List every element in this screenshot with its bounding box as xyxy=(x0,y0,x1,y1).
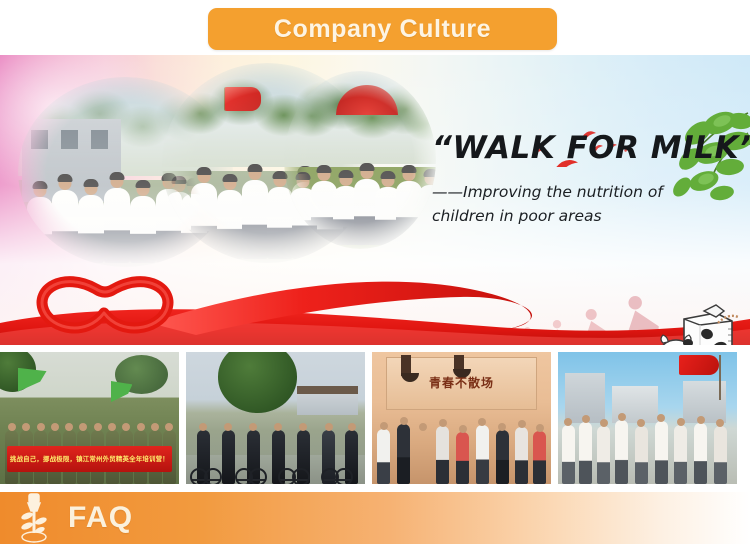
faq-bar[interactable]: FAQ xyxy=(0,492,750,544)
company-culture-page: Company Culture xyxy=(0,0,750,557)
photo-cycling-team[interactable] xyxy=(186,352,365,484)
banner-headline: “WALK FOR MILK” xyxy=(432,133,732,164)
photo-hall-sign-text: 青春不散场 xyxy=(429,374,494,391)
faq-label: FAQ xyxy=(68,503,133,533)
walk-for-milk-banner: MILK xyxy=(0,55,750,345)
collage-photo-right xyxy=(284,71,436,249)
drill-auger-glyph xyxy=(12,492,56,544)
ribbon-icon xyxy=(0,237,750,345)
banner-text-block: “WALK FOR MILK” ——Improving the nutritio… xyxy=(432,133,732,228)
milk-carton-illustration: MILK xyxy=(660,295,742,345)
company-culture-header-pill: Company Culture xyxy=(208,8,557,50)
photo-hall-sign: 青春不散场 xyxy=(401,365,523,399)
drill-auger-icon xyxy=(12,492,56,544)
milk-carton-label: MILK xyxy=(705,343,736,345)
bottom-white-margin xyxy=(0,544,750,557)
photo-indoor-party[interactable]: 青春不散场 xyxy=(372,352,551,484)
red-ribbon-heart xyxy=(0,237,750,345)
section-header: Company Culture xyxy=(0,0,750,55)
photo-strip: 挑战自己，挪战极限，镇江常州外贸精英全年培训营！ xyxy=(0,352,750,484)
banner-subline: ——Improving the nutrition of children in… xyxy=(432,180,728,228)
photo-street-march[interactable] xyxy=(558,352,737,484)
photo-banner-caption: 挑战自己，挪战极限，镇江常州外贸精英全年培训营！ xyxy=(7,446,172,472)
photo-banner-caption-text: 挑战自己，挪战极限，镇江常州外贸精英全年培训营！ xyxy=(10,454,169,463)
milk-carton-icon: MILK xyxy=(660,295,742,345)
photo-group-banner[interactable]: 挑战自己，挪战极限，镇江常州外贸精英全年培训营！ xyxy=(0,352,179,484)
page-title: Company Culture xyxy=(274,17,491,42)
